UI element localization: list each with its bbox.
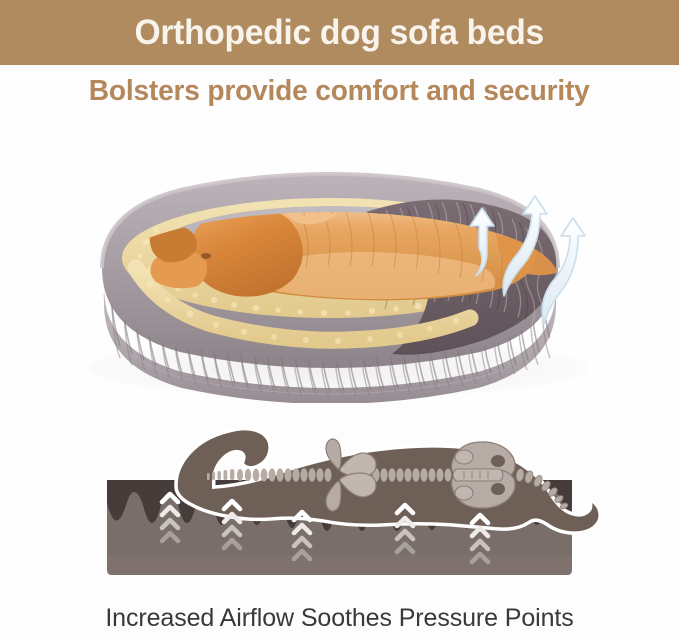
product-infographic-page: Orthopedic dog sofa beds Bolsters provid… xyxy=(0,0,679,641)
pelvis-bones xyxy=(452,442,516,508)
cross-section-diagram xyxy=(0,405,679,595)
page-title: Orthopedic dog sofa beds xyxy=(135,15,544,50)
caption-row: Increased Airflow Soothes Pressure Point… xyxy=(0,596,679,641)
foam-front-face xyxy=(107,555,572,575)
subtitle-row: Bolsters provide comfort and security xyxy=(0,69,679,113)
dog-bed-photo-illustration xyxy=(0,118,679,403)
foam-cross-section-svg xyxy=(0,405,679,595)
dog-eye xyxy=(201,253,211,259)
subtitle-text: Bolsters provide comfort and security xyxy=(89,77,590,106)
header-band: Orthopedic dog sofa beds xyxy=(0,0,679,65)
product-photo xyxy=(0,118,679,403)
caption-text: Increased Airflow Soothes Pressure Point… xyxy=(105,606,573,631)
